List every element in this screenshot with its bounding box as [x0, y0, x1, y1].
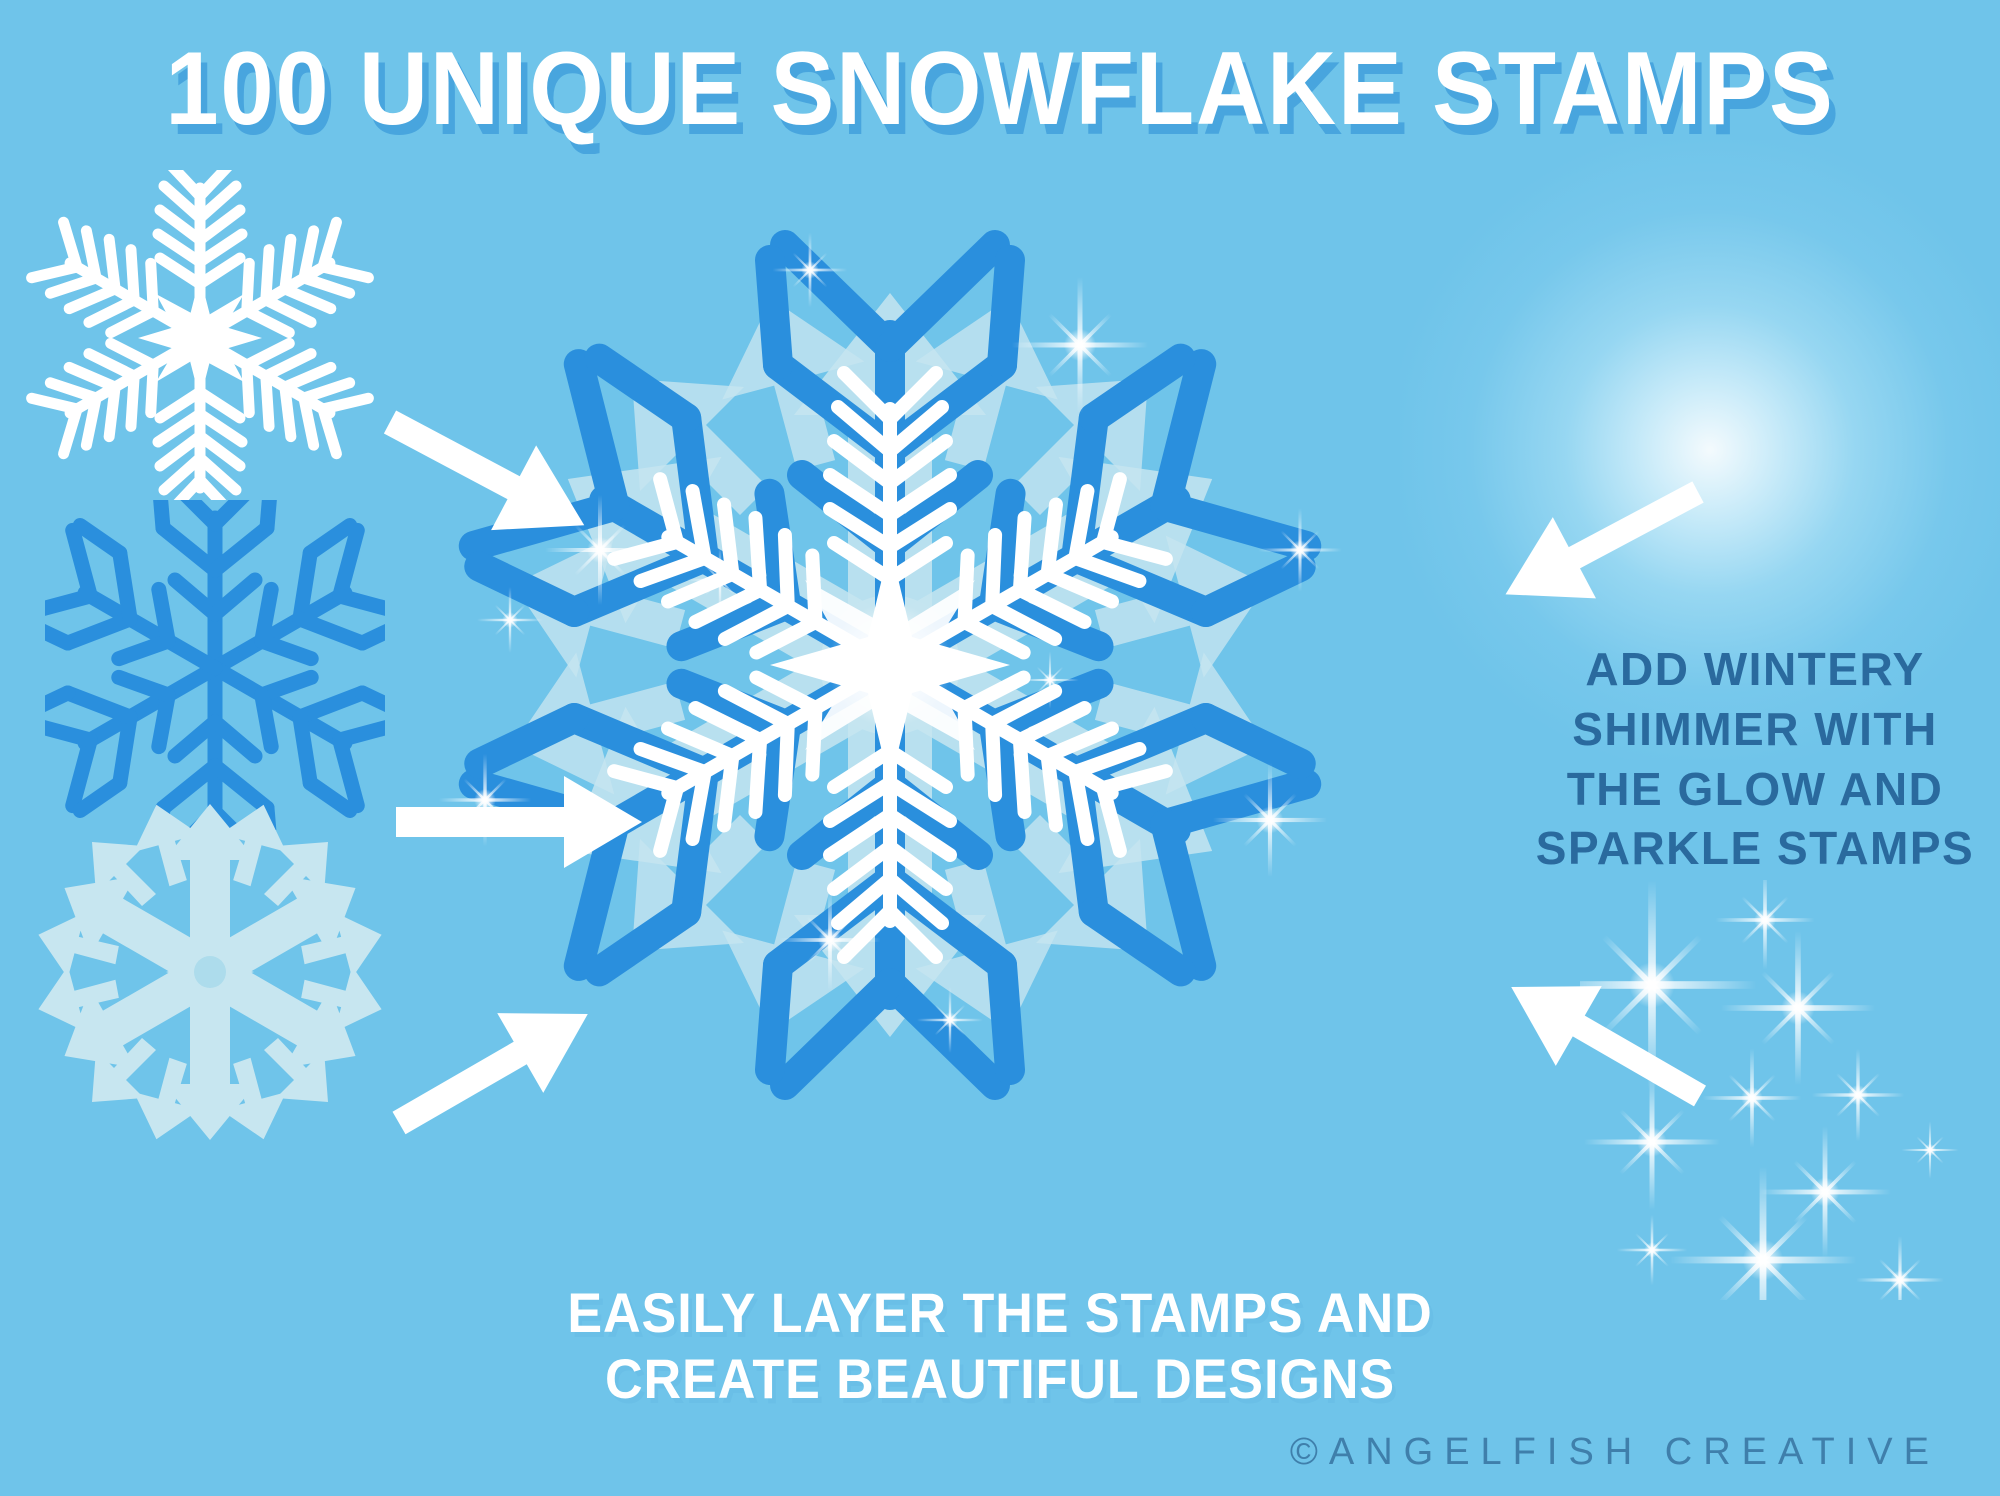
- arrow-top-right: [1420, 470, 1720, 650]
- blue-branch-snowflake: [45, 500, 385, 830]
- sparkle-cluster: [1580, 880, 2000, 1300]
- caption-right-line-3: THE GLOW AND: [1530, 760, 1980, 820]
- white-feathered-snowflake-layer: [607, 373, 1173, 957]
- arrow-top-left: [380, 400, 660, 600]
- copyright-notice: ©ANGELFISH CREATIVE: [1290, 1431, 1940, 1474]
- caption-right-line-1: ADD WINTERY: [1530, 640, 1980, 700]
- caption-bottom-line-1: EASILY LAYER THE STAMPS AND: [461, 1280, 1540, 1346]
- caption-bottom: EASILY LAYER THE STAMPS AND CREATE BEAUT…: [461, 1280, 1540, 1412]
- arrow-middle-left: [390, 770, 680, 880]
- caption-right-line-2: SHIMMER WITH: [1530, 700, 1980, 760]
- blue-branch-snowflake-layer: [466, 245, 1313, 1085]
- arrow-bottom-left: [385, 955, 685, 1145]
- arrow-bottom-right: [1400, 930, 1720, 1120]
- page-title: 100 UNIQUE SNOWFLAKE STAMPS: [80, 30, 1920, 149]
- pale-chunky-snowflake-layer: [439, 256, 1341, 1075]
- pale-chunky-snowflake: [30, 800, 390, 1140]
- caption-right-line-4: SPARKLE STAMPS: [1530, 819, 1980, 879]
- layered-snowflake-stack: [390, 120, 1390, 1200]
- sparkle-stamps-overlay: [439, 233, 1342, 1053]
- caption-bottom-line-2: CREATE BEAUTIFUL DESIGNS: [461, 1346, 1540, 1412]
- poster-canvas: 100 UNIQUE SNOWFLAKE STAMPS ADD WINTERY …: [0, 0, 2000, 1496]
- feathered-white-snowflake: [20, 170, 380, 500]
- caption-right: ADD WINTERY SHIMMER WITH THE GLOW AND SP…: [1530, 640, 1980, 879]
